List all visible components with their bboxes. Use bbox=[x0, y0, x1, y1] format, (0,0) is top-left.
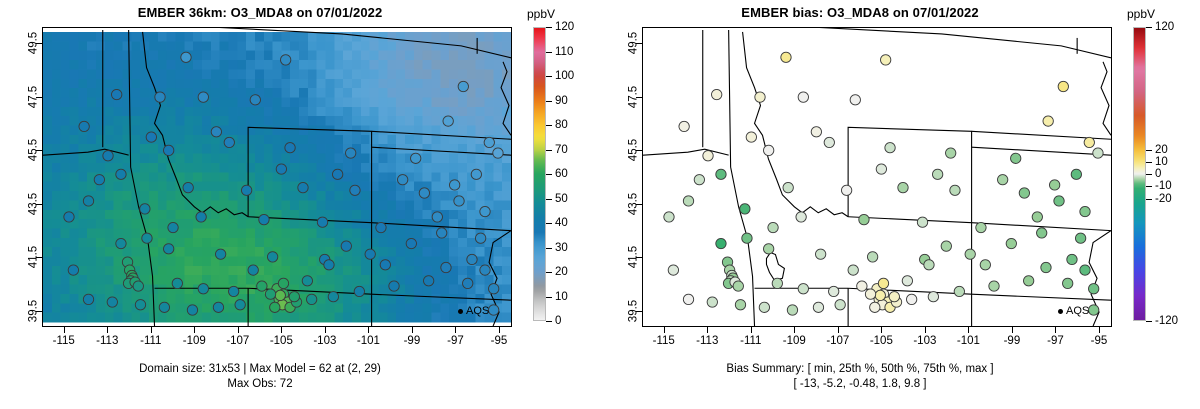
colorbar-tick bbox=[546, 174, 552, 175]
observation-marker bbox=[980, 260, 990, 270]
colorbar-model: ppbV 1201101009080706050403020100 bbox=[533, 27, 595, 327]
observation-marker bbox=[932, 169, 942, 179]
x-tick bbox=[925, 327, 926, 333]
y-tick-label: 49.5 bbox=[627, 43, 639, 65]
colorbar-tick bbox=[1146, 27, 1152, 28]
observation-marker bbox=[716, 238, 726, 248]
caption-line-1: Bias Summary: [ min, 25th %, 50th %, 75t… bbox=[600, 362, 1120, 377]
observation-marker bbox=[365, 249, 375, 259]
colorbar-tick-label: 0 bbox=[1155, 168, 1161, 180]
observation-marker bbox=[211, 127, 221, 137]
colorbar-unit-label: ppbV bbox=[527, 7, 555, 21]
observation-marker bbox=[280, 55, 290, 65]
observation-points-bias bbox=[643, 28, 1111, 326]
observation-marker bbox=[813, 302, 823, 312]
observation-marker bbox=[1080, 265, 1090, 275]
observation-marker bbox=[917, 217, 927, 227]
colorbar-tick bbox=[546, 199, 552, 200]
observation-marker bbox=[902, 276, 912, 286]
observation-marker bbox=[1080, 206, 1090, 216]
x-tick-label: -107 bbox=[226, 335, 249, 347]
aqs-marker-icon bbox=[458, 309, 463, 314]
observation-marker bbox=[83, 294, 93, 304]
y-axis-bias: 39.541.543.545.547.549.5 bbox=[610, 27, 642, 327]
page-subtitle: EMBER bias: O3_MDA8 on 07/01/2022 bbox=[600, 5, 1120, 20]
observation-marker bbox=[196, 212, 206, 222]
colorbar-tick-label: 0 bbox=[555, 315, 561, 327]
colorbar-tick bbox=[1146, 321, 1152, 322]
observation-marker bbox=[1023, 276, 1033, 286]
observation-marker bbox=[835, 300, 845, 310]
colorbar-tick-label: 10 bbox=[555, 291, 568, 303]
y-tick-label: 43.5 bbox=[627, 204, 639, 226]
observation-marker bbox=[441, 262, 451, 272]
observation-marker bbox=[875, 290, 885, 300]
colorbar-tick-label: 20 bbox=[1155, 144, 1168, 156]
observation-marker bbox=[889, 292, 899, 302]
observation-marker bbox=[906, 294, 916, 304]
colorbar-gradient bbox=[1133, 27, 1146, 321]
colorbar-unit-label: ppbV bbox=[1127, 7, 1155, 21]
x-axis-model: -115-113-111-109-107-105-103-101-99-97-9… bbox=[42, 327, 512, 359]
colorbar-tick-label: 120 bbox=[1155, 21, 1174, 33]
colorbar-tick-label: 70 bbox=[555, 144, 568, 156]
observation-marker bbox=[850, 95, 860, 105]
observation-marker bbox=[1058, 81, 1068, 91]
x-tick bbox=[455, 327, 456, 333]
observation-marker bbox=[772, 278, 782, 288]
observation-marker bbox=[946, 148, 956, 158]
colorbar-tick bbox=[546, 297, 552, 298]
observation-marker bbox=[746, 132, 756, 142]
observation-marker bbox=[94, 175, 104, 185]
observation-marker bbox=[423, 276, 433, 286]
y-tick-label: 49.5 bbox=[27, 43, 39, 65]
observation-marker bbox=[346, 148, 356, 158]
observation-marker bbox=[376, 222, 386, 232]
observation-marker bbox=[781, 52, 791, 62]
observation-marker bbox=[259, 214, 269, 224]
observation-marker bbox=[443, 116, 453, 126]
observation-marker bbox=[257, 281, 267, 291]
observation-marker bbox=[783, 182, 793, 192]
observation-marker bbox=[306, 294, 316, 304]
observation-marker bbox=[1084, 137, 1094, 147]
observation-marker bbox=[285, 143, 295, 153]
observation-marker bbox=[1049, 180, 1059, 190]
observation-marker bbox=[471, 169, 481, 179]
observation-marker bbox=[1054, 196, 1064, 206]
observation-marker bbox=[733, 281, 743, 291]
y-tick-label: 45.5 bbox=[627, 150, 639, 172]
x-tick-label: -103 bbox=[913, 335, 936, 347]
observation-marker bbox=[1019, 188, 1029, 198]
colorbar-tick bbox=[546, 125, 552, 126]
observation-marker bbox=[298, 182, 308, 192]
colorbar-tick bbox=[1146, 174, 1152, 175]
observation-marker bbox=[878, 278, 888, 288]
observation-marker bbox=[454, 196, 464, 206]
colorbar-tick-label: -10 bbox=[1155, 180, 1172, 192]
observation-marker bbox=[142, 233, 152, 243]
observation-marker bbox=[270, 302, 280, 312]
observation-marker bbox=[103, 151, 113, 161]
observation-marker bbox=[1067, 254, 1077, 264]
observation-marker bbox=[187, 305, 197, 315]
observation-marker bbox=[740, 204, 750, 214]
observation-marker bbox=[215, 249, 225, 259]
observation-marker bbox=[759, 302, 769, 312]
observation-marker bbox=[181, 52, 191, 62]
y-tick-label: 45.5 bbox=[27, 150, 39, 172]
observation-marker bbox=[857, 281, 867, 291]
observation-marker bbox=[867, 252, 877, 262]
colorbar-tick bbox=[546, 52, 552, 53]
colorbar-tick-label: 50 bbox=[555, 193, 568, 205]
observation-marker bbox=[112, 89, 122, 99]
x-tick bbox=[794, 327, 795, 333]
observation-marker bbox=[432, 212, 442, 222]
x-tick bbox=[368, 327, 369, 333]
colorbar-tick-label: 100 bbox=[555, 70, 574, 82]
observation-marker bbox=[876, 164, 886, 174]
x-axis-bias: -115-113-111-109-107-105-103-101-99-97-9… bbox=[642, 327, 1112, 359]
observation-marker bbox=[350, 185, 360, 195]
y-tick-label: 39.5 bbox=[627, 311, 639, 333]
x-tick bbox=[64, 327, 65, 333]
observation-marker bbox=[885, 143, 895, 153]
observation-marker bbox=[324, 260, 334, 270]
x-tick bbox=[107, 327, 108, 333]
observation-marker bbox=[488, 284, 498, 294]
colorbar-tick bbox=[546, 150, 552, 151]
observation-marker bbox=[146, 132, 156, 142]
observation-marker bbox=[848, 265, 858, 275]
observation-marker bbox=[1088, 284, 1098, 294]
aqs-legend-label: AQS bbox=[466, 305, 489, 317]
observation-marker bbox=[332, 169, 342, 179]
colorbar-tick bbox=[546, 223, 552, 224]
x-tick-label: -107 bbox=[826, 335, 849, 347]
observation-points-model bbox=[43, 28, 511, 326]
observation-marker bbox=[488, 305, 498, 315]
colorbar-bias: ppbV 12020100-10-20-120 bbox=[1133, 27, 1195, 327]
x-tick bbox=[838, 327, 839, 333]
observation-marker bbox=[712, 89, 722, 99]
colorbar-tick-label: 10 bbox=[1155, 156, 1168, 168]
x-tick bbox=[412, 327, 413, 333]
observation-marker bbox=[159, 302, 169, 312]
observation-marker bbox=[458, 81, 468, 91]
page-title: EMBER 36km: O3_MDA8 on 07/01/2022 bbox=[0, 5, 520, 20]
observation-marker bbox=[898, 182, 908, 192]
caption-bias: Bias Summary: [ min, 25th %, 50th %, 75t… bbox=[600, 362, 1120, 392]
observation-marker bbox=[735, 300, 745, 310]
observation-marker bbox=[79, 121, 89, 131]
observation-marker bbox=[389, 281, 399, 291]
aqs-legend-model: AQS bbox=[458, 305, 489, 317]
observation-marker bbox=[1037, 228, 1047, 238]
observation-marker bbox=[954, 286, 964, 296]
observation-marker bbox=[265, 289, 275, 299]
observation-marker bbox=[829, 286, 839, 296]
observation-marker bbox=[1088, 305, 1098, 315]
observation-marker bbox=[107, 297, 117, 307]
y-tick-label: 41.5 bbox=[627, 257, 639, 279]
observation-marker bbox=[1043, 116, 1053, 126]
observation-marker bbox=[354, 286, 364, 296]
x-tick-label: -109 bbox=[783, 335, 806, 347]
observation-marker bbox=[155, 92, 165, 102]
x-tick-label: -97 bbox=[447, 335, 464, 347]
observation-marker bbox=[229, 286, 239, 296]
observation-marker bbox=[941, 241, 951, 251]
observation-marker bbox=[248, 265, 258, 275]
x-tick bbox=[238, 327, 239, 333]
observation-marker bbox=[880, 55, 890, 65]
colorbar-gradient bbox=[533, 27, 546, 321]
x-tick-label: -105 bbox=[270, 335, 293, 347]
observation-marker bbox=[133, 281, 143, 291]
observation-marker bbox=[668, 265, 678, 275]
observation-marker bbox=[703, 151, 713, 161]
x-tick-label: -111 bbox=[740, 335, 761, 347]
colorbar-tick-label: 80 bbox=[555, 119, 568, 131]
observation-marker bbox=[768, 222, 778, 232]
observation-marker bbox=[198, 284, 208, 294]
y-tick-label: 47.5 bbox=[627, 97, 639, 119]
x-tick-label: -99 bbox=[404, 335, 421, 347]
aqs-marker-icon bbox=[1058, 309, 1063, 314]
colorbar-tick bbox=[1146, 150, 1152, 151]
observation-marker bbox=[755, 92, 765, 102]
observation-marker bbox=[1063, 278, 1073, 288]
colorbar-tick bbox=[546, 76, 552, 77]
observation-marker bbox=[1075, 233, 1085, 243]
observation-marker bbox=[928, 292, 938, 302]
observation-marker bbox=[976, 222, 986, 232]
colorbar-tick bbox=[546, 321, 552, 322]
observation-marker bbox=[763, 244, 773, 254]
observation-marker bbox=[865, 289, 875, 299]
colorbar-tick-label: -120 bbox=[1155, 315, 1178, 327]
observation-marker bbox=[763, 145, 773, 155]
observation-marker bbox=[870, 302, 880, 312]
x-tick bbox=[968, 327, 969, 333]
observation-marker bbox=[275, 290, 285, 300]
colorbar-tick bbox=[546, 101, 552, 102]
x-tick bbox=[881, 327, 882, 333]
x-tick bbox=[194, 327, 195, 333]
figure-container: EMBER 36km: O3_MDA8 on 07/01/2022 bbox=[0, 0, 1200, 409]
colorbar-tick-label: 90 bbox=[555, 95, 568, 107]
observation-marker bbox=[694, 175, 704, 185]
x-tick bbox=[499, 327, 500, 333]
observation-marker bbox=[1093, 148, 1103, 158]
observation-marker bbox=[787, 305, 797, 315]
observation-marker bbox=[83, 196, 93, 206]
observation-marker bbox=[380, 260, 390, 270]
colorbar-tick-label: 40 bbox=[555, 217, 568, 229]
observation-marker bbox=[796, 212, 806, 222]
plot-area-bias bbox=[642, 27, 1112, 327]
observation-marker bbox=[241, 185, 251, 195]
x-tick-label: -115 bbox=[653, 335, 675, 347]
x-tick-label: -109 bbox=[183, 335, 206, 347]
observation-marker bbox=[924, 260, 934, 270]
colorbar-tick bbox=[546, 272, 552, 273]
observation-marker bbox=[1006, 238, 1016, 248]
colorbar-tick-label: 60 bbox=[555, 168, 568, 180]
observation-marker bbox=[679, 121, 689, 131]
observation-marker bbox=[64, 212, 74, 222]
x-tick-label: -101 bbox=[957, 335, 980, 347]
x-tick bbox=[281, 327, 282, 333]
observation-marker bbox=[116, 238, 126, 248]
observation-marker bbox=[1032, 212, 1042, 222]
observation-marker bbox=[664, 212, 674, 222]
colorbar-tick-label: 120 bbox=[555, 21, 574, 33]
observation-marker bbox=[989, 281, 999, 291]
observation-marker bbox=[135, 300, 145, 310]
x-tick bbox=[1012, 327, 1013, 333]
observation-marker bbox=[1071, 169, 1081, 179]
x-tick-label: -103 bbox=[313, 335, 336, 347]
observation-marker bbox=[213, 302, 223, 312]
observation-marker bbox=[480, 265, 490, 275]
x-tick bbox=[151, 327, 152, 333]
x-tick bbox=[325, 327, 326, 333]
observation-marker bbox=[198, 92, 208, 102]
observation-marker bbox=[406, 238, 416, 248]
colorbar-tick bbox=[1146, 199, 1152, 200]
observation-marker bbox=[475, 233, 485, 243]
observation-marker bbox=[965, 249, 975, 259]
observation-marker bbox=[798, 92, 808, 102]
observation-marker bbox=[493, 148, 503, 158]
observation-marker bbox=[183, 182, 193, 192]
plot-area-model bbox=[42, 27, 512, 327]
observation-marker bbox=[68, 265, 78, 275]
observation-marker bbox=[140, 204, 150, 214]
observation-marker bbox=[811, 127, 821, 137]
observation-marker bbox=[278, 278, 288, 288]
observation-marker bbox=[683, 196, 693, 206]
observation-marker bbox=[950, 185, 960, 195]
observation-marker bbox=[235, 300, 245, 310]
x-tick-label: -113 bbox=[96, 335, 118, 347]
panel-bias: EMBER bias: O3_MDA8 on 07/01/2022 bbox=[600, 0, 1200, 409]
caption-line-2: Max Obs: 72 bbox=[0, 377, 520, 392]
observation-marker bbox=[824, 137, 834, 147]
observation-marker bbox=[484, 137, 494, 147]
observation-marker bbox=[317, 217, 327, 227]
colorbar-tick bbox=[546, 248, 552, 249]
colorbar-tick-label: -20 bbox=[1155, 193, 1172, 205]
observation-marker bbox=[798, 284, 808, 294]
x-tick bbox=[751, 327, 752, 333]
observation-marker bbox=[716, 169, 726, 179]
observation-marker bbox=[289, 292, 299, 302]
aqs-legend-bias: AQS bbox=[1058, 305, 1089, 317]
observation-marker bbox=[163, 244, 173, 254]
x-tick-label: -115 bbox=[53, 335, 75, 347]
x-tick bbox=[1055, 327, 1056, 333]
colorbar-tick bbox=[1146, 162, 1152, 163]
observation-marker bbox=[859, 214, 869, 224]
x-tick-label: -105 bbox=[870, 335, 893, 347]
observation-marker bbox=[116, 169, 126, 179]
observation-marker bbox=[683, 294, 693, 304]
x-tick-label: -101 bbox=[357, 335, 380, 347]
observation-marker bbox=[1011, 153, 1021, 163]
caption-line-2: [ -13, -5.2, -0.48, 1.8, 9.8 ] bbox=[600, 377, 1120, 392]
observation-marker bbox=[302, 276, 312, 286]
observation-marker bbox=[742, 233, 752, 243]
observation-marker bbox=[224, 137, 234, 147]
observation-marker bbox=[841, 185, 851, 195]
x-tick bbox=[1099, 327, 1100, 333]
y-tick-label: 39.5 bbox=[27, 311, 39, 333]
colorbar-tick-label: 30 bbox=[555, 242, 568, 254]
x-tick bbox=[707, 327, 708, 333]
colorbar-tick bbox=[546, 27, 552, 28]
observation-marker bbox=[707, 297, 717, 307]
observation-marker bbox=[163, 145, 173, 155]
observation-marker bbox=[168, 222, 178, 232]
y-tick-label: 41.5 bbox=[27, 257, 39, 279]
observation-marker bbox=[449, 180, 459, 190]
observation-marker bbox=[397, 175, 407, 185]
x-tick-label: -95 bbox=[491, 335, 508, 347]
y-axis-model: 39.541.543.545.547.549.5 bbox=[10, 27, 42, 327]
observation-marker bbox=[172, 278, 182, 288]
observation-marker bbox=[419, 188, 429, 198]
observation-marker bbox=[341, 241, 351, 251]
observation-marker bbox=[411, 153, 421, 163]
observation-marker bbox=[480, 206, 490, 216]
x-tick-label: -97 bbox=[1047, 335, 1064, 347]
colorbar-tick-label: 110 bbox=[555, 46, 573, 58]
observation-marker bbox=[267, 252, 277, 262]
observation-marker bbox=[1041, 262, 1051, 272]
observation-marker bbox=[276, 164, 286, 174]
observation-marker bbox=[467, 254, 477, 264]
x-tick-label: -95 bbox=[1091, 335, 1108, 347]
colorbar-tick-label: 20 bbox=[555, 266, 568, 278]
colorbar-tick bbox=[1146, 186, 1152, 187]
caption-model: Domain size: 31x53 | Max Model = 62 at (… bbox=[0, 362, 520, 392]
x-tick-label: -99 bbox=[1004, 335, 1021, 347]
observation-marker bbox=[997, 175, 1007, 185]
x-tick bbox=[664, 327, 665, 333]
observation-marker bbox=[250, 95, 260, 105]
observation-marker bbox=[815, 249, 825, 259]
panel-model: EMBER 36km: O3_MDA8 on 07/01/2022 bbox=[0, 0, 600, 409]
y-tick-label: 43.5 bbox=[27, 204, 39, 226]
caption-line-1: Domain size: 31x53 | Max Model = 62 at (… bbox=[0, 362, 520, 377]
observation-marker bbox=[328, 292, 338, 302]
y-tick-label: 47.5 bbox=[27, 97, 39, 119]
x-tick-label: -113 bbox=[696, 335, 718, 347]
aqs-legend-label: AQS bbox=[1066, 305, 1089, 317]
observation-marker bbox=[463, 278, 473, 288]
x-tick-label: -111 bbox=[140, 335, 161, 347]
observation-marker bbox=[437, 228, 447, 238]
